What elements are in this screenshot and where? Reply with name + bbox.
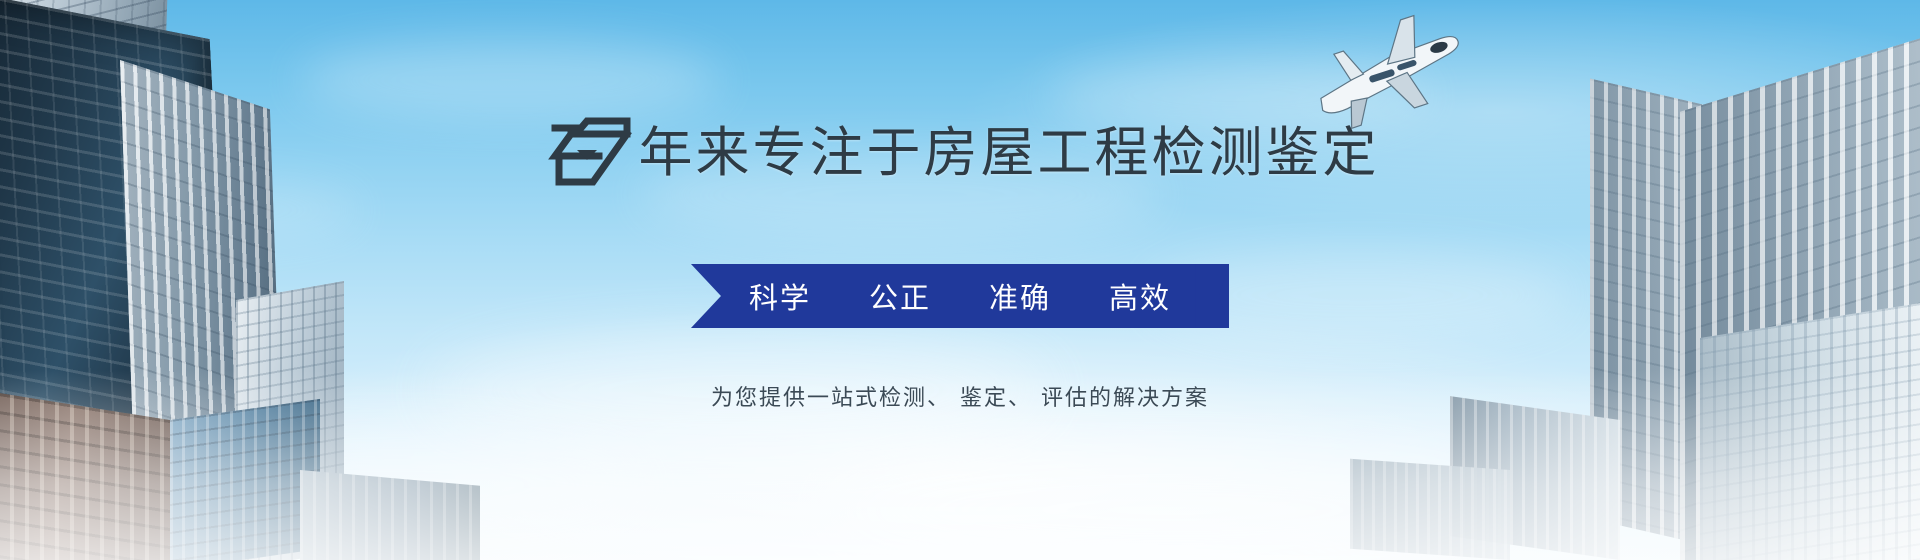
ribbon-keyword-3: 准确 (989, 275, 1051, 317)
banner-subtitle: 为您提供一站式检测、 鉴定、 评估的解决方案 (0, 380, 1920, 412)
page-title: 年来专注于房屋工程检测鉴定 (0, 108, 1920, 187)
ribbon-keyword-2: 公正 (869, 275, 931, 317)
keywords-ribbon: 科学 公正 准确 高效 (691, 264, 1229, 328)
ribbon-keyword-1: 科学 (749, 275, 811, 317)
banner-content: 年来专注于房屋工程检测鉴定 科学 公正 准确 高效 为您提供一站式检测、 鉴定、… (0, 0, 1920, 560)
page-title-text: 年来专注于房屋工程检测鉴定 (639, 108, 1380, 187)
duo-logo-icon (541, 116, 633, 188)
keywords-ribbon-wrapper: 科学 公正 准确 高效 (0, 264, 1920, 328)
hero-banner: 年来专注于房屋工程检测鉴定 科学 公正 准确 高效 为您提供一站式检测、 鉴定、… (0, 0, 1920, 560)
ribbon-keyword-4: 高效 (1109, 275, 1171, 317)
